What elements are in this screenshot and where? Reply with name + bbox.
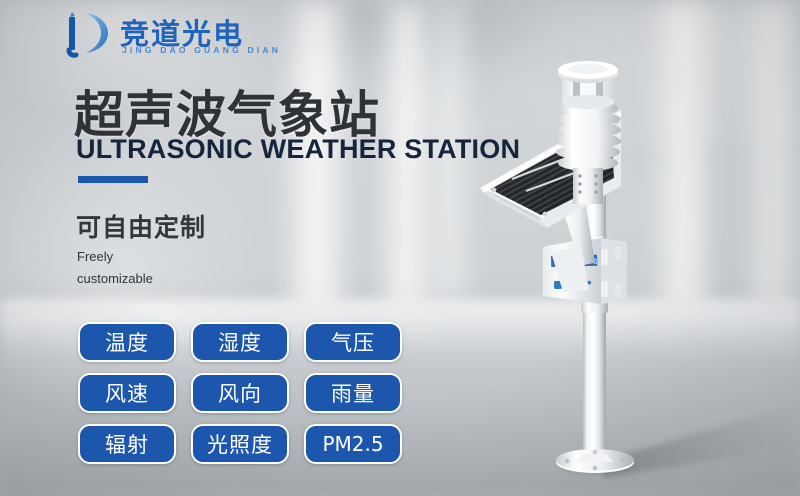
tag-wind-direction[interactable]: 风向 <box>191 373 289 413</box>
base-flange <box>556 449 634 473</box>
tag-temperature[interactable]: 温度 <box>78 322 176 362</box>
customization-heading-en: Freely customizable <box>77 246 153 290</box>
accent-divider <box>78 176 148 183</box>
tag-rainfall[interactable]: 雨量 <box>304 373 402 413</box>
tag-illuminance[interactable]: 光照度 <box>191 424 289 464</box>
tag-air-pressure[interactable]: 气压 <box>304 322 402 362</box>
page-subtitle-en: ULTRASONIC WEATHER STATION <box>76 134 520 165</box>
brand-logo[interactable]: 竞道光电 JING DAO GUANG DIAN <box>56 8 366 60</box>
brand-name-pinyin: JING DAO GUANG DIAN <box>122 45 281 55</box>
tag-humidity[interactable]: 湿度 <box>191 322 289 362</box>
tag-radiation[interactable]: 辐射 <box>78 424 176 464</box>
radiation-shield <box>555 100 621 171</box>
jd-monogram-icon <box>56 8 114 58</box>
tag-pm25[interactable]: PM2.5 <box>304 424 402 464</box>
customization-heading: 可自由定制 <box>76 208 206 244</box>
feature-tag-list: 温度湿度气压风速风向雨量辐射光照度PM2.5 <box>78 322 418 464</box>
product-image: 气象环境监测站 <box>455 0 800 496</box>
tag-wind-speed[interactable]: 风速 <box>78 373 176 413</box>
product-banner: 竞道光电 JING DAO GUANG DIAN 超声波气象站 ULTRASON… <box>0 0 800 496</box>
